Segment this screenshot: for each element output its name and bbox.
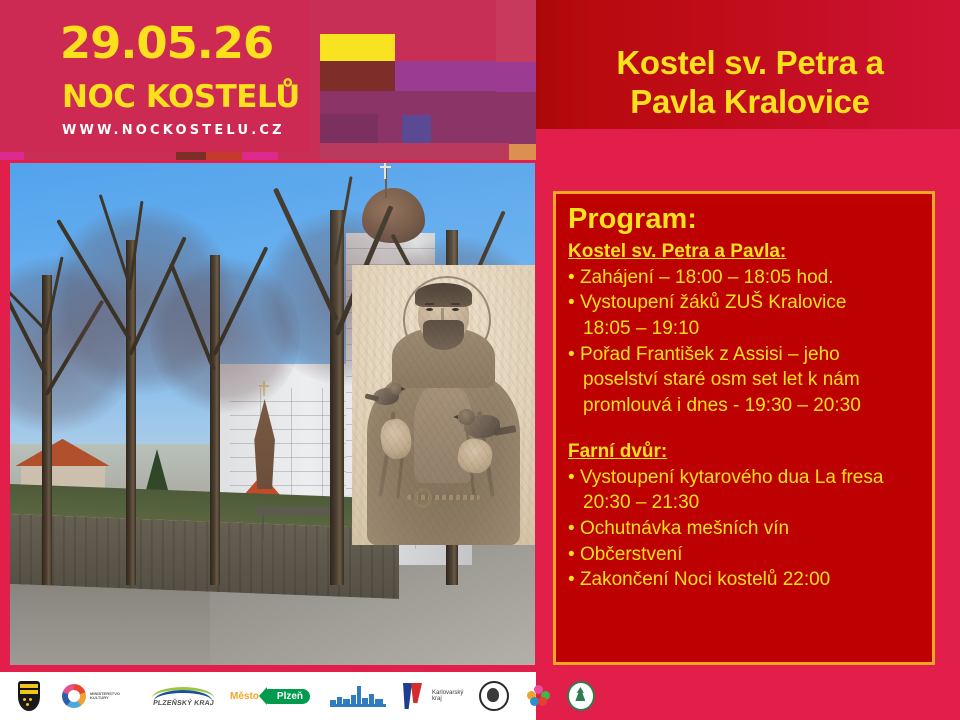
- rope-knot: [414, 488, 432, 508]
- kralovice-coat-of-arms-icon: [18, 679, 40, 713]
- program-item-continuation: poselství staré osm set let k nám: [568, 368, 920, 393]
- section-item-list: • Vystoupení kytarového dua La fresa 20:…: [568, 466, 920, 593]
- eye: [426, 308, 433, 311]
- section-heading: Kostel sv. Petra a Pavla:: [568, 240, 786, 264]
- bullet-icon: •: [568, 344, 575, 365]
- plzensky-kraj-icon: PLZEŇSKÝ KRAJ: [152, 679, 214, 713]
- mosaic-tile: [0, 152, 24, 160]
- program-item-text: Zakončení Noci kostelů 22:00: [580, 569, 830, 590]
- program-item-continuation: 20:30 – 21:30: [568, 491, 920, 516]
- headline-line-1: Kostel sv. Petra a: [548, 44, 952, 83]
- program-box: Program: Kostel sv. Petra a Pavla: • Zah…: [553, 191, 935, 665]
- program-item-text: Zahájení – 18:00 – 18:05 hod.: [580, 267, 834, 288]
- plzen-skyline-icon: [330, 679, 386, 713]
- bullet-icon: •: [568, 518, 575, 539]
- saint-hair: [415, 283, 472, 307]
- mosaic-tile-yellow: [320, 34, 395, 61]
- kraj-label: kraj: [432, 696, 463, 702]
- section-item-list: • Zahájení – 18:00 – 18:05 hod. • Vystou…: [568, 266, 920, 419]
- nose: [441, 308, 444, 320]
- headline-line-2: Pavla Kralovice: [548, 83, 952, 122]
- green-tree-icon: [567, 679, 595, 713]
- bird-left: [367, 380, 411, 412]
- program-section-church: Kostel sv. Petra a Pavla: • Zahájení – 1…: [568, 240, 920, 419]
- program-item: • Pořad František z Assisi – jeho: [568, 343, 920, 368]
- mosaic-tile: [395, 61, 509, 91]
- program-item-continuation: 18:05 – 19:10: [568, 317, 920, 342]
- bird-beak: [453, 415, 458, 419]
- plzen-label: Plzeň: [266, 689, 310, 704]
- program-item: • Vystoupení žáků ZUŠ Kralovice: [568, 291, 920, 316]
- program-item: • Zahájení – 18:00 – 18:05 hod.: [568, 266, 920, 291]
- mesto-label: Město: [230, 691, 259, 702]
- program-item-text: Občerstvení: [580, 544, 682, 565]
- eyebrow: [451, 303, 460, 305]
- bullet-icon: •: [568, 467, 575, 488]
- bullet-icon: •: [568, 292, 575, 313]
- banner-date: 29.05.26: [60, 22, 273, 66]
- poster-canvas: 29.05.26 NOC KOSTELŮ WWW.NOCKOSTELU.CZ K…: [0, 0, 960, 720]
- mosaic-tile: [395, 0, 509, 34]
- saint-francis-drawing: [352, 265, 535, 545]
- ministry-of-culture-icon: MINISTERSTVOKULTURY: [62, 679, 132, 713]
- poster-headline: Kostel sv. Petra a Pavla Kralovice: [548, 44, 952, 121]
- mosaic-tile: [496, 62, 536, 92]
- bird-right: [456, 405, 518, 449]
- program-item: • Zakončení Noci kostelů 22:00: [568, 568, 920, 593]
- mosaic-tile: [320, 114, 378, 143]
- program-item: • Vystoupení kytarového dua La fresa: [568, 466, 920, 491]
- mosaic-tile: [496, 92, 536, 144]
- section-spacer: [568, 420, 920, 440]
- eye: [452, 308, 459, 311]
- program-title: Program:: [568, 204, 920, 236]
- banner-title: NOC KOSTELŮ: [62, 82, 300, 113]
- program-item-continuation: promlouvá i dnes - 19:30 – 20:30: [568, 394, 920, 419]
- noc-kostelu-banner: 29.05.26 NOC KOSTELŮ WWW.NOCKOSTELU.CZ: [0, 0, 536, 160]
- mesto-plzen-icon: Město Plzeň: [230, 679, 310, 713]
- bullet-icon: •: [568, 569, 575, 590]
- mosaic-tile: [320, 143, 509, 160]
- program-item-text: Vystoupení kytarového dua La fresa: [580, 467, 884, 488]
- mosaic-tile: [496, 0, 536, 62]
- karlovarsky-kraj-icon: Karlovarský kraj: [400, 679, 463, 713]
- banner-website: WWW.NOCKOSTELU.CZ: [62, 124, 285, 137]
- eyebrow: [425, 303, 434, 305]
- colorful-flower-icon: [527, 679, 551, 713]
- bullet-icon: •: [568, 544, 575, 565]
- mosaic-tile: [402, 115, 431, 143]
- bullet-icon: •: [568, 267, 575, 288]
- program-item: • Občerstvení: [568, 543, 920, 568]
- plzensky-kraj-label: PLZEŇSKÝ KRAJ: [152, 700, 214, 707]
- seal-icon: [479, 679, 509, 713]
- mosaic-tile: [320, 61, 395, 91]
- program-item-text: Pořad František z Assisi – jeho: [580, 344, 840, 365]
- program-item-text: Vystoupení žáků ZUŠ Kralovice: [580, 292, 846, 313]
- section-heading: Farní dvůr:: [568, 440, 667, 464]
- program-item: • Ochutnávka mešních vín: [568, 517, 920, 542]
- sponsor-logo-strip: MINISTERSTVOKULTURY PLZEŇSKÝ KRAJ Město …: [0, 672, 536, 720]
- program-item-text: Ochutnávka mešních vín: [580, 518, 789, 539]
- bird-beak: [401, 387, 406, 391]
- program-section-courtyard: Farní dvůr: • Vystoupení kytarového dua …: [568, 440, 920, 593]
